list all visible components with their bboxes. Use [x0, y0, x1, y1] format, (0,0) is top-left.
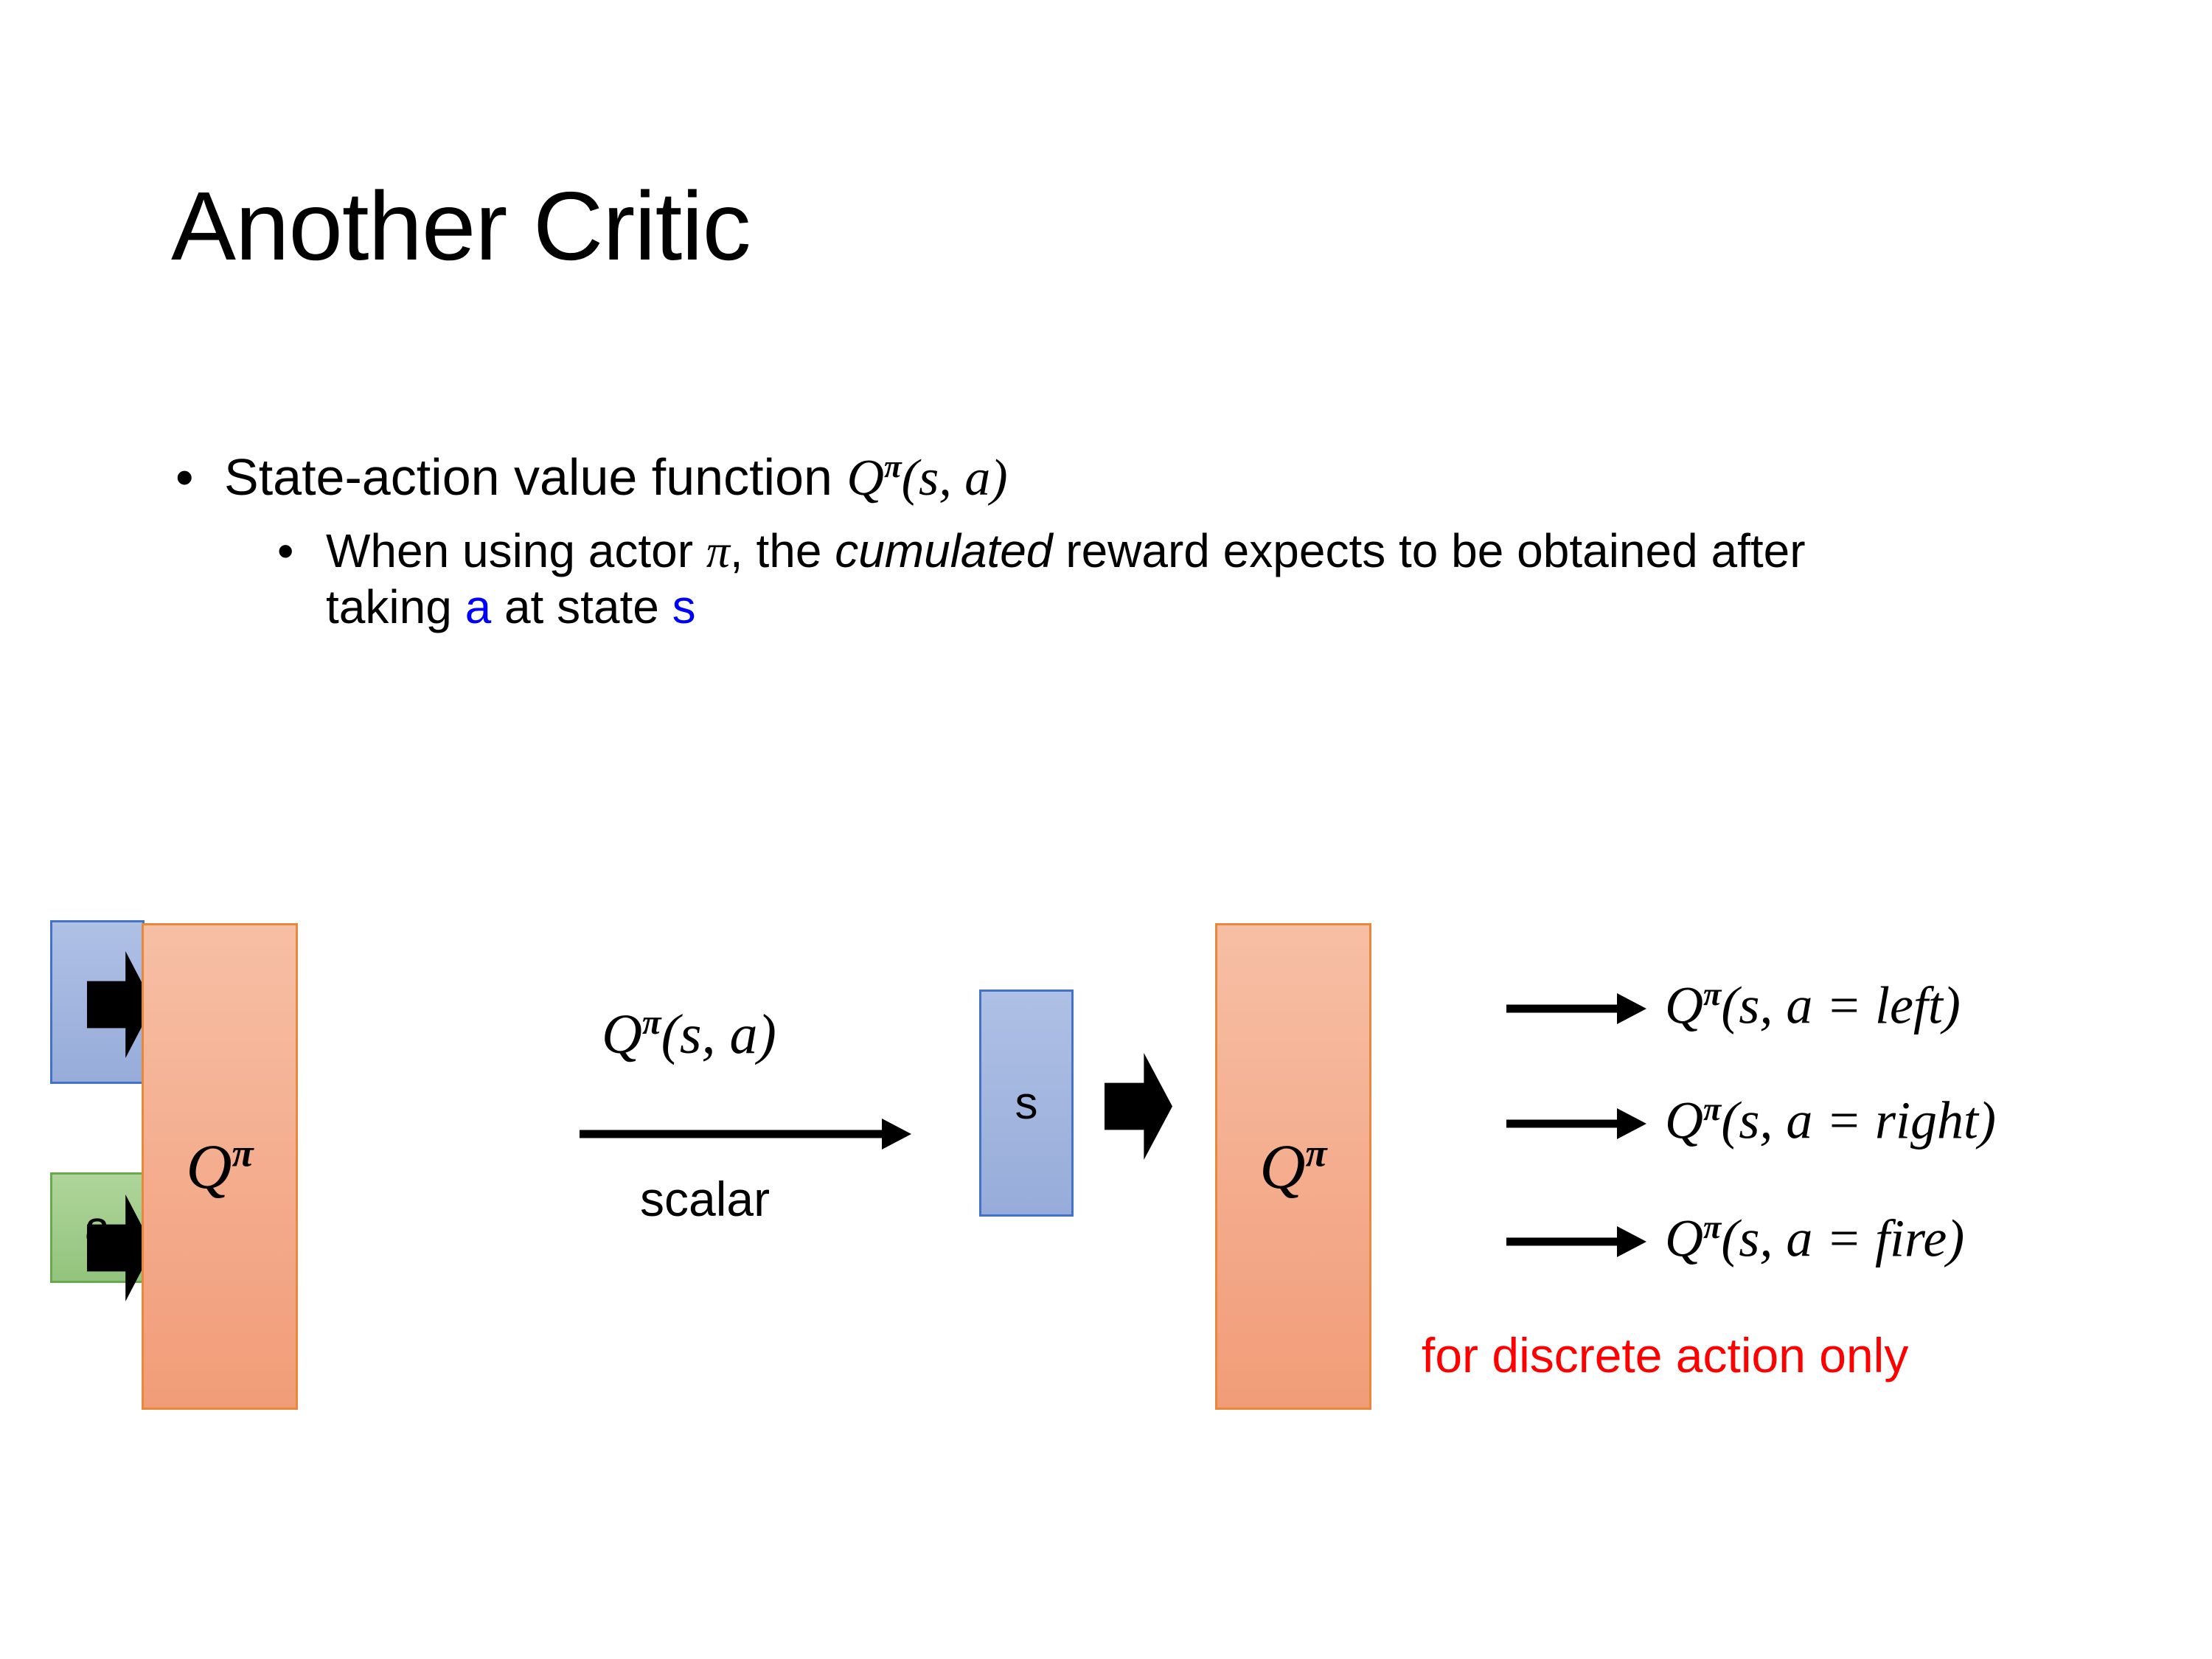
right-network-box-label: Qπ: [1259, 1130, 1326, 1203]
bullet-level1-formula-pi: π: [884, 449, 902, 484]
bullet-level2-part4: at state: [491, 580, 672, 633]
bullet-level1: • State-action value function Qπ(s, a): [171, 448, 2014, 507]
right-output-3-pi: π: [1703, 1208, 1721, 1245]
bullet-level2-part2: , the: [730, 524, 835, 577]
left-network-box-label: Qπ: [186, 1130, 253, 1203]
left-output-caption: scalar: [640, 1171, 770, 1227]
bullet-level2-action-highlight: a: [465, 580, 492, 633]
right-output-3-args: (s, a = fire): [1721, 1209, 1964, 1268]
page-title: Another Critic: [171, 175, 751, 278]
left-network-q-letter: Q: [186, 1131, 232, 1202]
bullet-level1-text: State-action value function: [224, 448, 846, 506]
right-output-1-pi: π: [1703, 975, 1721, 1012]
bullet-level2-state-highlight: s: [672, 580, 696, 633]
bullet-level2-part1: When using actor: [326, 524, 706, 577]
bullet-marker-icon: •: [277, 524, 293, 580]
bullet-level1-formula-q: Q: [846, 450, 884, 507]
right-network-pi-letter: π: [1306, 1131, 1327, 1175]
right-state-box-label: s: [1015, 1077, 1038, 1130]
right-state-block-arrow-icon: [1105, 1053, 1172, 1160]
bullet-level2-emphasis: cumulated: [835, 524, 1052, 577]
discrete-action-note: for discrete action only: [1422, 1327, 1908, 1383]
bullet-level2-pi: π: [706, 525, 730, 577]
bullet-marker-icon: •: [175, 448, 194, 506]
right-output-label-1: Qπ(s, a = left): [1665, 975, 1961, 1037]
bullet-list: • State-action value function Qπ(s, a) •…: [171, 448, 2014, 635]
right-state-box: s: [979, 990, 1074, 1217]
left-output-q-letter: Q: [602, 1004, 642, 1065]
right-output-2-q: Q: [1665, 1091, 1703, 1150]
left-network-pi-letter: π: [232, 1131, 254, 1175]
right-network-q-letter: Q: [1259, 1131, 1305, 1202]
bullet-level2: •When using actor π, the cumulated rewar…: [273, 524, 1837, 635]
left-output-formula: Qπ(s, a): [602, 1003, 776, 1067]
left-output-args: (s, a): [661, 1004, 776, 1065]
right-output-label-3: Qπ(s, a = fire): [1665, 1208, 1964, 1270]
left-output-pi-letter: π: [642, 1004, 661, 1042]
right-output-2-args: (s, a = right): [1721, 1091, 1996, 1150]
right-network-box: Qπ: [1215, 923, 1371, 1410]
right-output-1-q: Q: [1665, 976, 1703, 1035]
left-network-box: Qπ: [142, 923, 298, 1410]
bullet-level1-formula-args: (s, a): [902, 450, 1008, 507]
right-output-label-2: Qπ(s, a = right): [1665, 1090, 1996, 1152]
right-output-3-q: Q: [1665, 1209, 1703, 1268]
right-output-1-args: (s, a = left): [1721, 976, 1961, 1035]
right-output-2-pi: π: [1703, 1091, 1721, 1127]
